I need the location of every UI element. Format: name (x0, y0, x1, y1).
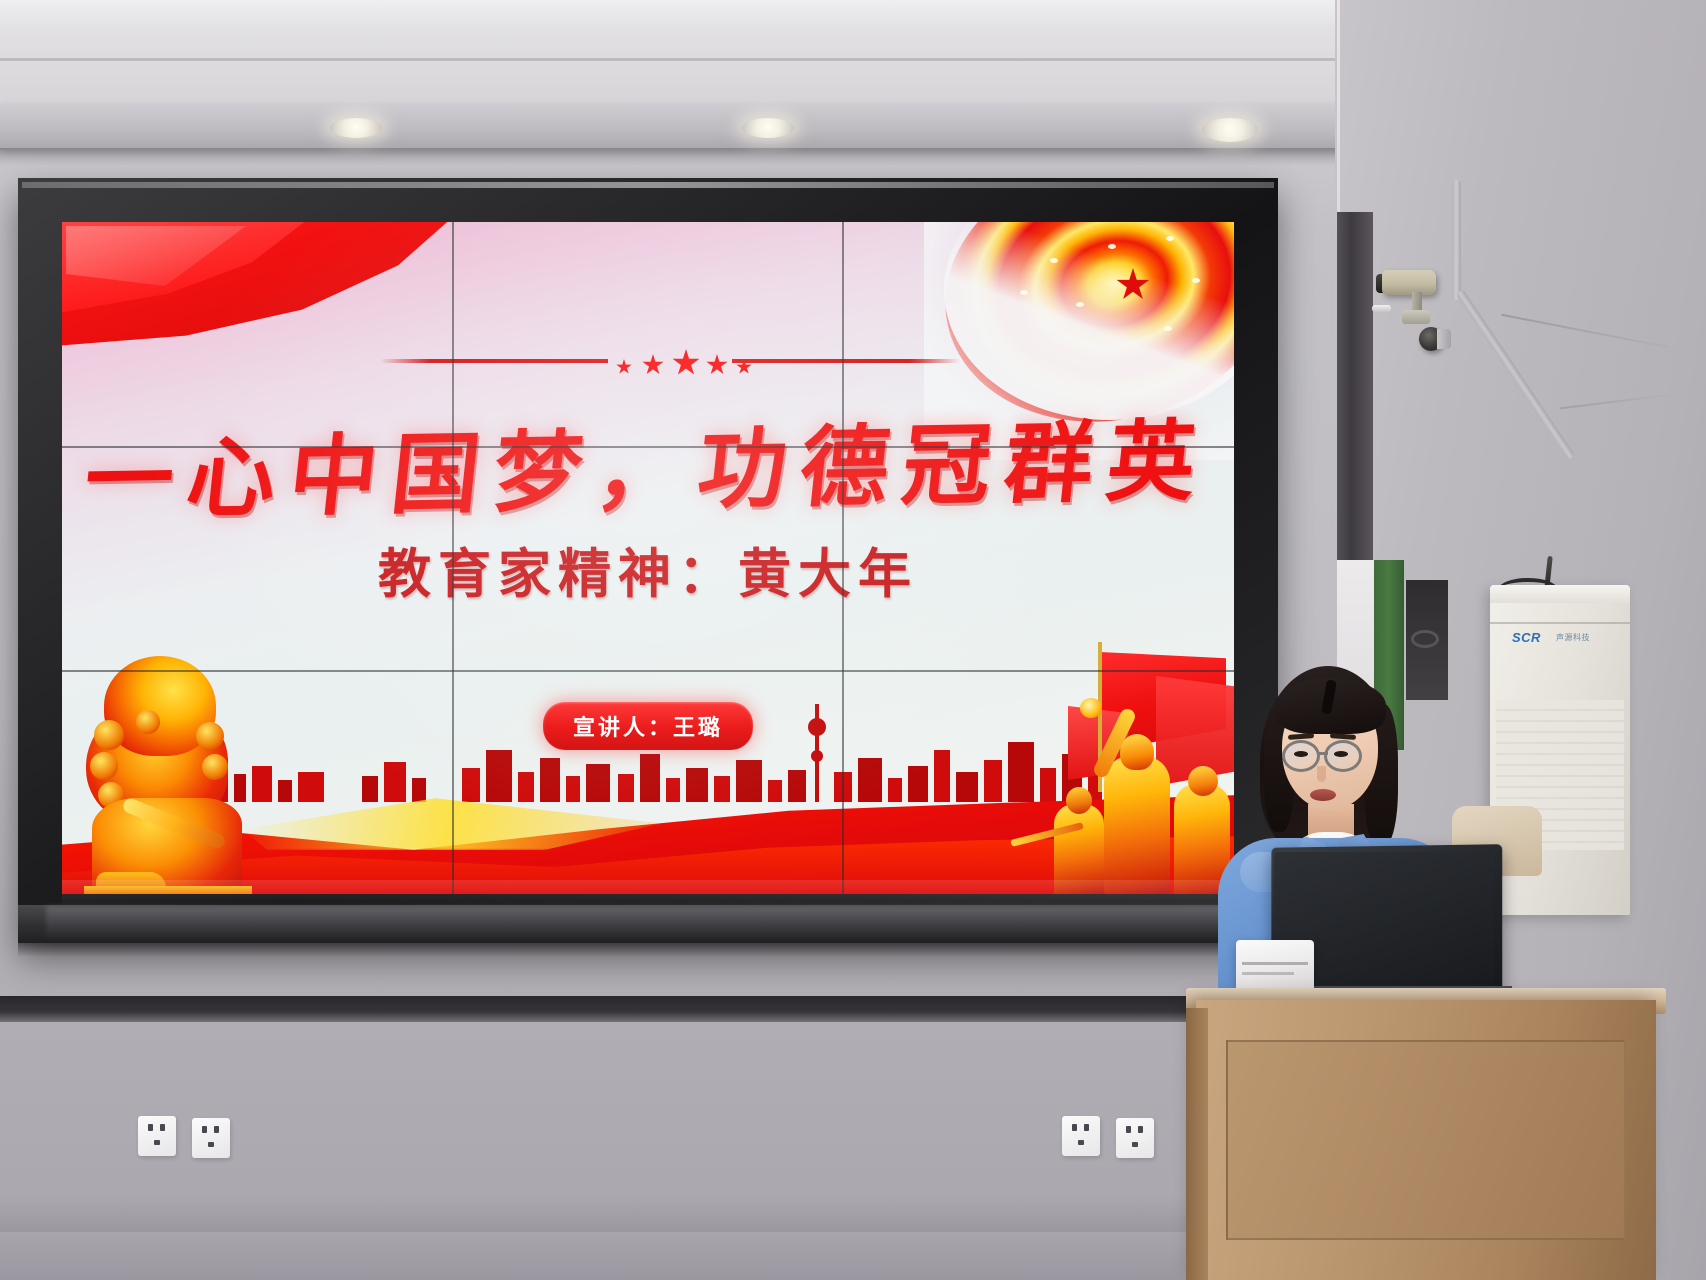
soffit-shadow (0, 148, 1460, 166)
divider-star (672, 349, 700, 377)
eye-right (1334, 751, 1348, 757)
outlet-slot (214, 1126, 219, 1133)
outlet-slot (160, 1124, 165, 1131)
microphone-receiver-box[interactable] (1236, 940, 1314, 992)
receiver-vent-line (1242, 972, 1294, 975)
divider-line-right (732, 359, 960, 363)
slide-headline: 一心中国梦，功德冠群英 (62, 390, 1234, 537)
skyline-building (788, 770, 806, 802)
skyline-building (714, 776, 730, 802)
ceiling-light-2 (742, 118, 794, 138)
skyline-building (768, 780, 782, 802)
door-handle[interactable] (1372, 305, 1391, 312)
wall-control-unit-top (1490, 585, 1630, 603)
wall-control-unit-seam (1490, 622, 1630, 624)
lion-mane-curl (94, 720, 124, 750)
outlet-slot (148, 1124, 153, 1131)
skyline-building (858, 758, 882, 802)
lion-mane-curl (196, 722, 224, 750)
skyline-building (462, 768, 480, 802)
eye-left (1294, 751, 1308, 757)
divider-star (616, 359, 632, 375)
lion-pedestal (84, 886, 252, 894)
skyline-building (934, 750, 950, 802)
skyline-building (566, 776, 580, 802)
ceiling-light-1 (330, 118, 382, 138)
divider-star (706, 354, 728, 376)
skyline-building (412, 778, 426, 802)
spiral-sparkle (1108, 244, 1116, 249)
tv-tower-sphere-lower (811, 750, 823, 762)
receiver-vent-line (1242, 962, 1308, 965)
ceiling-seam (0, 58, 1450, 61)
security-camera-mount (1402, 310, 1430, 324)
wall-dark-band (0, 996, 1186, 1022)
wall-recess-object (1411, 630, 1439, 648)
skyline-building (486, 750, 512, 802)
spiral-sparkle (1050, 258, 1058, 263)
skyline-building (618, 774, 634, 802)
outlet-slot (1138, 1126, 1143, 1133)
ceiling-light-3 (1202, 118, 1258, 142)
video-wall-drop-shadow (18, 943, 1280, 957)
video-wall-seam-horizontal (62, 670, 1234, 672)
video-wall-seam-vertical (452, 222, 454, 894)
skyline-building (362, 776, 378, 802)
skyline-building (736, 760, 762, 802)
scr-brand-sublabel: 声源科技 (1556, 632, 1590, 643)
video-wall-screen[interactable]: 一心中国梦，功德冠群英 教育家精神：黄大年 宣讲人：王璐 (62, 222, 1234, 894)
tv-tower-sphere-upper (808, 718, 826, 736)
skyline-building (686, 768, 708, 802)
skyline-building (908, 766, 928, 802)
outlet-slot (154, 1140, 160, 1145)
rail-reflection (46, 906, 1258, 940)
security-camera-icon (1382, 270, 1436, 295)
outlet-slot (1078, 1140, 1084, 1145)
statue-head-left (1066, 787, 1092, 814)
skyline-building (586, 764, 610, 802)
guardian-lion-statue (80, 648, 260, 894)
skyline-building (298, 772, 324, 802)
outlet-slot (202, 1126, 207, 1133)
outlet-slot (1132, 1142, 1138, 1147)
statue-raised-fist (1080, 698, 1102, 718)
divider-star (642, 354, 664, 376)
lower-wall-shading (0, 1196, 1200, 1236)
podium-front-panel (1226, 1040, 1626, 1240)
heroic-statue-group (984, 636, 1234, 894)
skyline-building (518, 772, 534, 802)
skyline-building (666, 778, 680, 802)
spiral-sparkle (1164, 326, 1172, 331)
skyline-building (278, 780, 292, 802)
mouth (1310, 789, 1336, 801)
spiral-sparkle (1020, 290, 1028, 295)
podium-left-edge (1186, 1008, 1208, 1280)
outlet-slot (1084, 1124, 1089, 1131)
skyline-building (640, 754, 660, 802)
video-wall-seam-horizontal (62, 446, 1234, 448)
spiral-sparkle (1192, 278, 1200, 283)
wall-outlet-3[interactable] (1062, 1116, 1100, 1156)
five-star-divider (380, 346, 960, 374)
divider-line-left (380, 359, 608, 363)
lion-mane-curl (202, 754, 228, 780)
outlet-slot (1126, 1126, 1131, 1133)
wall-outlet-4[interactable] (1116, 1118, 1154, 1158)
baseboard (0, 1232, 1196, 1280)
skyline-building (540, 758, 560, 802)
spiral-sparkle (1076, 302, 1084, 307)
skyline-building (888, 778, 902, 802)
spiral-sparkle (1166, 236, 1174, 241)
eyeglasses-bridge (1319, 752, 1328, 755)
statue-figure-left (1054, 804, 1104, 894)
wall-outlet-2[interactable] (192, 1118, 230, 1158)
skyline-building (956, 772, 978, 802)
video-wall-frame-highlight (22, 182, 1274, 188)
skyline-building (384, 762, 406, 802)
slide-subtitle: 教育家精神：黄大年 (62, 532, 1234, 608)
wall-conduit (1452, 180, 1461, 300)
statue-figure-center (1104, 756, 1170, 894)
lion-mane-curl (90, 752, 118, 780)
scr-brand-logo: SCR (1512, 630, 1541, 645)
wall-outlet-1[interactable] (138, 1116, 176, 1156)
lion-mane-curl (136, 710, 160, 734)
nose (1317, 766, 1326, 782)
screenshot-scene: SCR 声源科技 一心中国梦，功德冠群英 教育家 (0, 0, 1706, 1280)
outlet-slot (208, 1142, 214, 1147)
outlet-slot (1072, 1124, 1077, 1131)
dome-sensor-mount (1437, 329, 1451, 349)
statue-head-center (1120, 734, 1154, 770)
video-wall-seam-vertical (842, 222, 844, 894)
